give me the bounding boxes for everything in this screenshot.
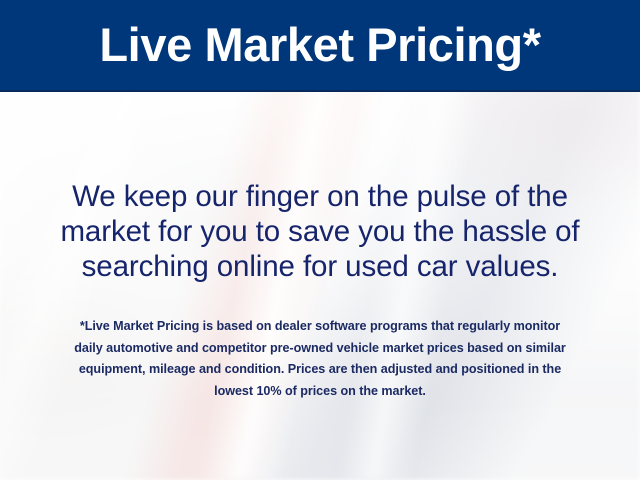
disclaimer-text: *Live Market Pricing is based on dealer … <box>24 316 616 402</box>
disclaimer-line-2: daily automotive and competitor pre-owne… <box>24 338 616 360</box>
banner-content: We keep our finger on the pulse of the m… <box>0 92 640 480</box>
disclaimer-line-4: lowest 10% of prices on the market. <box>24 381 616 403</box>
headline-line-1: We keep our finger on the pulse of the <box>22 179 618 214</box>
header-band: Live Market Pricing* <box>0 0 640 92</box>
headline-text: We keep our finger on the pulse of the m… <box>22 179 618 284</box>
disclaimer-line-3: equipment, mileage and condition. Prices… <box>24 359 616 381</box>
page-title: Live Market Pricing* <box>99 21 540 71</box>
disclaimer-line-1: *Live Market Pricing is based on dealer … <box>24 316 616 338</box>
headline-line-2: market for you to save you the hassle of <box>22 214 618 249</box>
headline-line-3: searching online for used car values. <box>22 249 618 284</box>
live-market-pricing-banner: Live Market Pricing* We keep our finger … <box>0 0 640 480</box>
